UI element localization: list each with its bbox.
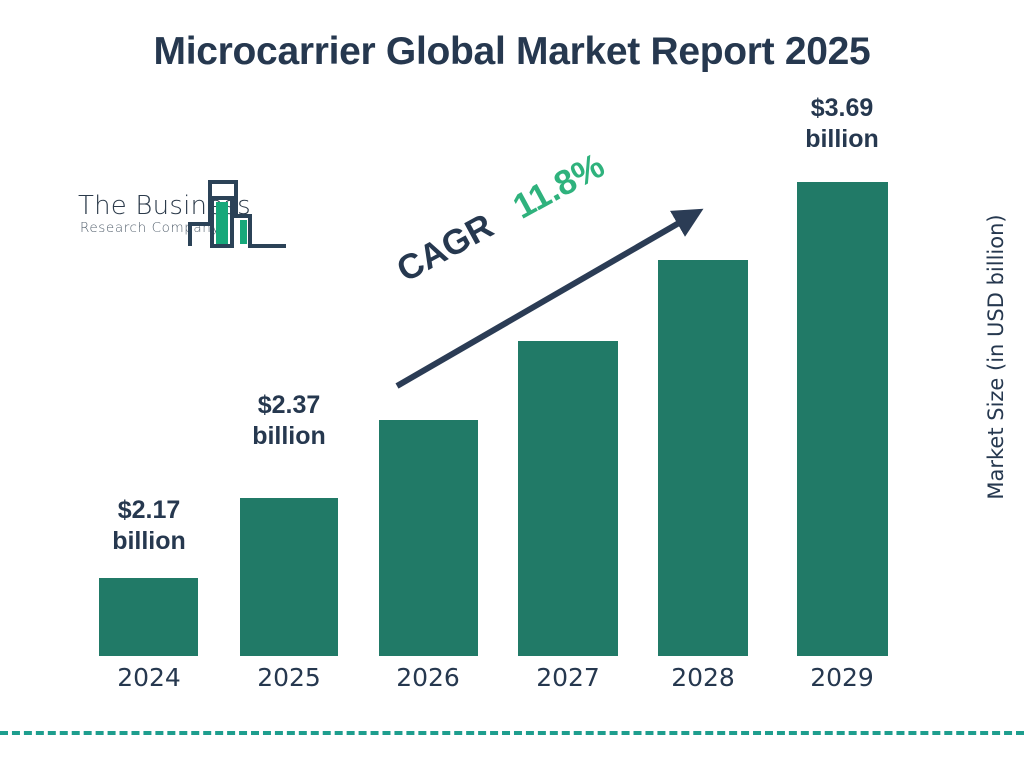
x-tick-2024: 2024 (84, 663, 214, 692)
bar-value-label-2029: $3.69 billion (777, 93, 907, 154)
bar-value-label-2025-line1: $2.37 (224, 390, 354, 421)
page-title: Microcarrier Global Market Report 2025 (0, 30, 1024, 74)
bar-2029 (797, 182, 888, 656)
bar-value-label-2029-line1: $3.69 (777, 93, 907, 124)
bar-2027 (518, 341, 618, 656)
bar-2025 (240, 498, 338, 656)
bar-2026 (379, 420, 478, 656)
x-tick-2028: 2028 (638, 663, 768, 692)
x-tick-2027: 2027 (503, 663, 633, 692)
x-tick-2026: 2026 (363, 663, 493, 692)
x-tick-2025: 2025 (224, 663, 354, 692)
chart-canvas: Microcarrier Global Market Report 2025 T… (0, 0, 1024, 768)
bar-value-label-2025-line2: billion (224, 421, 354, 452)
footer-divider (0, 731, 1024, 735)
bar-2028 (658, 260, 748, 656)
bar-value-label-2024-line2: billion (84, 526, 214, 557)
bar-chart-outline-icon (188, 178, 288, 261)
bar-2024 (99, 578, 198, 656)
bar-value-label-2024: $2.17 billion (84, 495, 214, 556)
x-tick-2029: 2029 (777, 663, 907, 692)
bar-value-label-2029-line2: billion (777, 124, 907, 155)
bar-value-label-2025: $2.37 billion (224, 390, 354, 451)
company-logo: The Business Research Company (78, 183, 283, 253)
bar-value-label-2024-line1: $2.17 (84, 495, 214, 526)
y-axis-title: Market Size (in USD billion) (984, 207, 1008, 507)
